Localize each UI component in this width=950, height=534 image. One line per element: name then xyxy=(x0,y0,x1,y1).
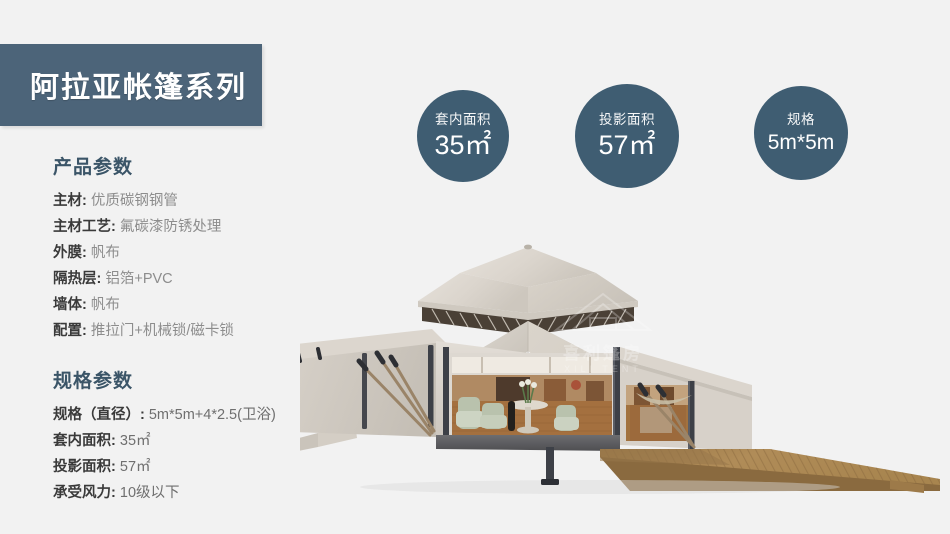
badge-interior-area: 套内面积 35㎡ xyxy=(417,90,509,182)
spec-label: 主材: xyxy=(53,193,87,209)
spec-label: 投影面积: xyxy=(53,459,116,475)
badge-dimensions: 规格 5m*5m xyxy=(754,86,848,180)
spec-value: 推拉门+机械锁/磁卡锁 xyxy=(91,323,234,339)
series-title-banner: 阿拉亚帐篷系列 xyxy=(0,44,262,126)
section-heading-product-parameters: 产品参数 xyxy=(53,152,353,179)
badge-value: 5m*5m xyxy=(768,132,835,153)
spec-label: 外膜: xyxy=(53,245,87,261)
tent-illustration xyxy=(300,235,950,495)
series-title-text: 阿拉亚帐篷系列 xyxy=(30,64,247,106)
badge-label: 套内面积 xyxy=(435,113,491,127)
badge-label: 规格 xyxy=(787,113,815,127)
spec-row: 主材: 优质碳钢钢管 xyxy=(53,188,353,214)
spec-label: 配置: xyxy=(53,323,87,339)
spec-label: 隔热层: xyxy=(53,271,101,287)
badge-projected-area: 投影面积 57㎡ xyxy=(575,84,679,188)
badge-value: 35㎡ xyxy=(434,132,491,159)
spec-label: 主材工艺: xyxy=(53,219,116,235)
spec-value: 5m*5m+4*2.5(卫浴) xyxy=(149,407,276,423)
spec-value: 10级以下 xyxy=(120,485,180,501)
spec-value: 帆布 xyxy=(91,297,120,313)
poster-canvas: 阿拉亚帐篷系列 产品参数 主材: 优质碳钢钢管 主材工艺: 氟碳漆防锈处理 外膜… xyxy=(0,0,950,534)
spec-value: 铝箔+PVC xyxy=(105,271,172,287)
spec-label: 规格（直径）: xyxy=(53,407,145,423)
spec-value: 35㎡ xyxy=(120,433,151,449)
spec-value: 优质碳钢钢管 xyxy=(91,193,178,209)
spec-value: 氟碳漆防锈处理 xyxy=(120,219,222,235)
spec-label: 墙体: xyxy=(53,297,87,313)
spec-value: 57㎡ xyxy=(120,459,151,475)
badge-label: 投影面积 xyxy=(599,113,655,127)
badge-value: 57㎡ xyxy=(598,132,655,159)
spec-label: 承受风力: xyxy=(53,485,116,501)
spec-label: 套内面积: xyxy=(53,433,116,449)
spec-value: 帆布 xyxy=(91,245,120,261)
